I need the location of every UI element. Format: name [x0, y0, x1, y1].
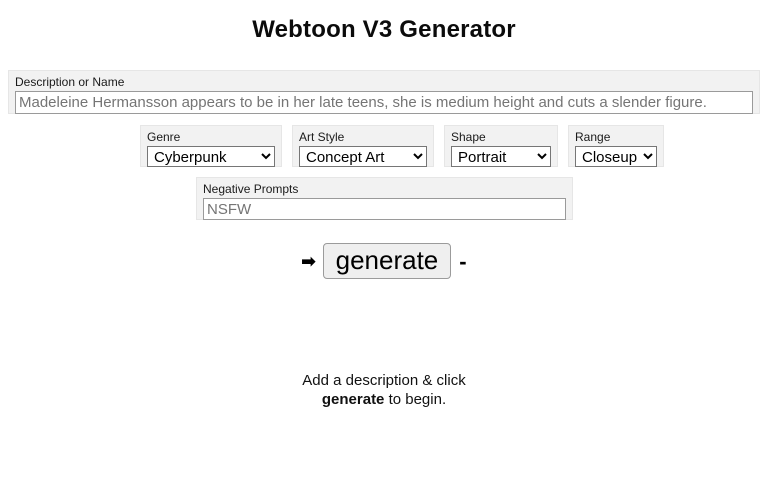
empty-state-hint: Add a description & click generate to be…: [0, 372, 768, 409]
art-style-label: Art Style: [299, 130, 427, 144]
page-title: Webtoon V3 Generator: [0, 0, 768, 44]
range-label: Range: [575, 130, 657, 144]
hint-suffix: to begin.: [384, 391, 446, 408]
negative-prompts-fieldset: Negative Prompts: [196, 177, 573, 220]
options-row: Genre Cyberpunk Art Style Concept Art Sh…: [140, 125, 664, 167]
art-style-select[interactable]: Concept Art: [299, 146, 427, 167]
shape-select[interactable]: Portrait: [451, 146, 551, 167]
negative-prompts-input[interactable]: [203, 198, 566, 220]
hint-emphasis: generate: [322, 391, 385, 408]
description-input[interactable]: [15, 91, 753, 114]
range-select[interactable]: Closeup: [575, 146, 657, 167]
negative-prompts-label: Negative Prompts: [203, 182, 566, 196]
generate-row: ➡ generate -: [0, 243, 768, 279]
hint-line-1: Add a description & click: [0, 372, 768, 390]
art-style-fieldset: Art Style Concept Art: [292, 125, 434, 167]
genre-label: Genre: [147, 130, 275, 144]
description-fieldset: Description or Name: [8, 70, 760, 114]
generate-button[interactable]: generate: [323, 243, 452, 279]
description-label: Description or Name: [15, 75, 753, 89]
shape-label: Shape: [451, 130, 551, 144]
genre-select[interactable]: Cyberpunk: [147, 146, 275, 167]
shape-fieldset: Shape Portrait: [444, 125, 558, 167]
range-fieldset: Range Closeup: [568, 125, 664, 167]
genre-fieldset: Genre Cyberpunk: [140, 125, 282, 167]
dash-marker-icon: -: [459, 253, 466, 270]
hint-line-2: generate to begin.: [0, 391, 768, 409]
arrow-right-icon: ➡: [301, 253, 314, 270]
